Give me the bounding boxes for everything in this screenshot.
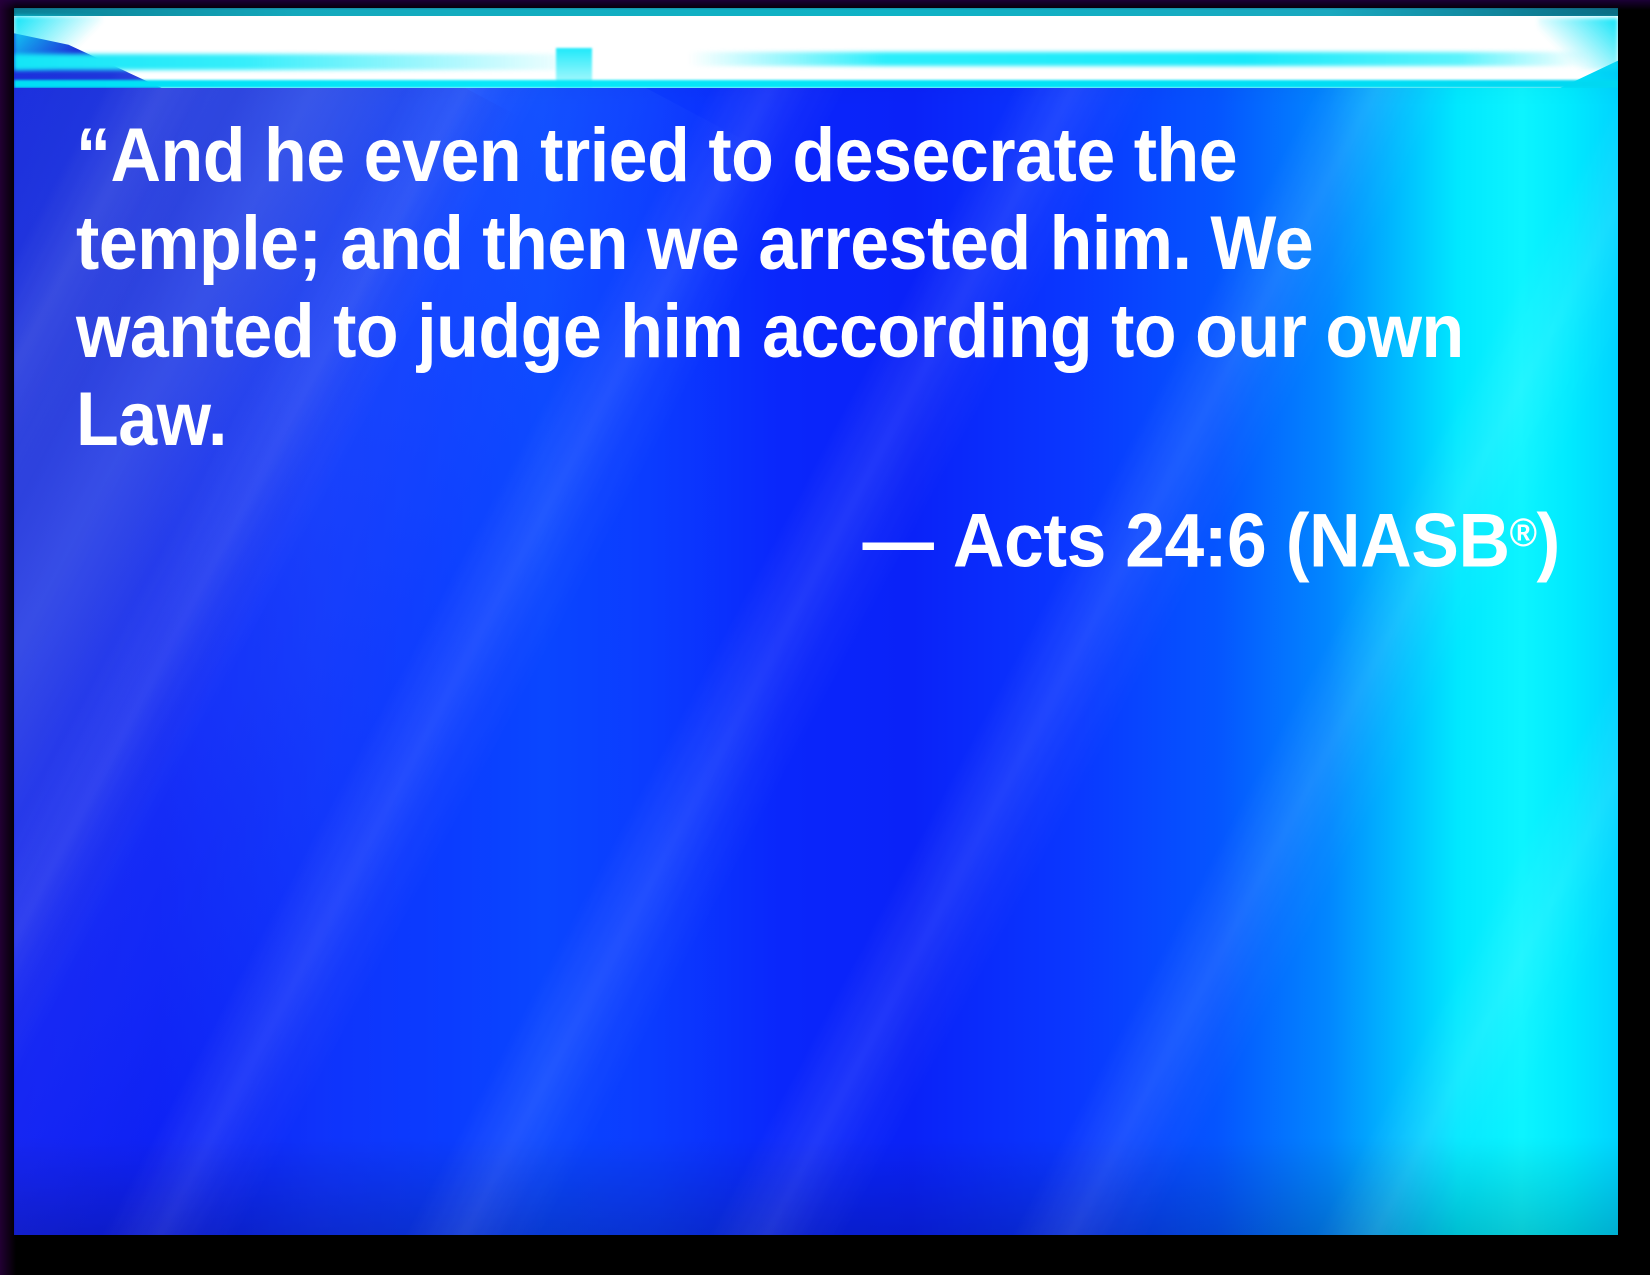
slide-frame: “And he even tried to desecrate the temp… xyxy=(0,0,1650,1275)
attribution-dash: — xyxy=(863,499,934,584)
top-cyan-edge xyxy=(14,80,1618,88)
slide-canvas: “And he even tried to desecrate the temp… xyxy=(14,8,1618,1235)
top-glare-band xyxy=(14,8,1618,88)
attribution-row: — Acts 24:6 (NASB®) xyxy=(76,490,1564,585)
attribution-reference: Acts 24:6 xyxy=(953,499,1266,584)
verse-line-4: Law. xyxy=(76,376,1445,464)
verse-line-1: “And he even tried to desecrate the xyxy=(76,112,1445,200)
top-teal-line xyxy=(14,8,1618,17)
top-cyan-streak-right xyxy=(688,52,1586,66)
registered-trademark-icon: ® xyxy=(1510,511,1537,555)
verse-line-2: temple; and then we arrested him. We xyxy=(76,200,1445,288)
attribution-translation-open: (NASB xyxy=(1286,499,1510,584)
verse-attribution: — Acts 24:6 (NASB®) xyxy=(863,490,1560,585)
verse-line-3: wanted to judge him according to our own xyxy=(76,288,1445,376)
attribution-translation-close: ) xyxy=(1537,499,1560,584)
top-cyan-streak-left xyxy=(14,54,591,70)
verse-text-block: “And he even tried to desecrate the temp… xyxy=(76,112,1564,585)
